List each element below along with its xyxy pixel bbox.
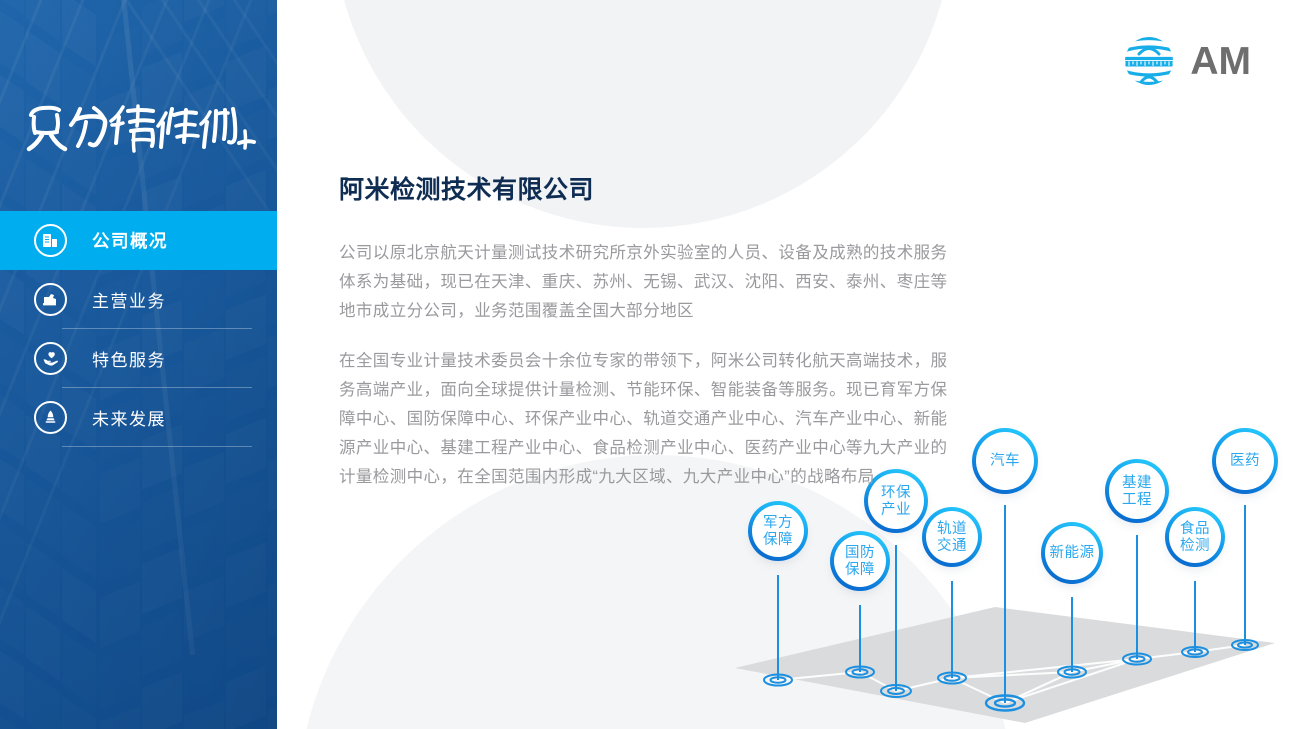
rocket-launch-icon [34, 401, 67, 434]
sidebar-item-label: 主营业务 [92, 287, 166, 312]
sidebar-item-2[interactable]: 主营业务 [0, 270, 277, 329]
sidebar-item-label: 未来发展 [92, 405, 166, 430]
sidebar-nav: 公司概况主营业务特色服务未来发展 [0, 211, 277, 447]
body-paragraph-1: 公司以原北京航天计量测试技术研究所京外实验室的人员、设备及成熟的技术服务体系为基… [339, 239, 964, 326]
industry-bubble[interactable]: 医药 [1216, 432, 1274, 490]
factory-machine-icon [34, 283, 67, 316]
sidebar-item-label: 公司概况 [92, 228, 168, 253]
calligraphy-slogan [24, 95, 256, 165]
slide-canvas: 公司概况主营业务特色服务未来发展 [0, 0, 1291, 729]
sidebar-item-3[interactable]: 特色服务 [0, 329, 277, 388]
page-title: 阿米检测技术有限公司 [339, 170, 964, 206]
brand-wordmark: AM [1190, 42, 1251, 81]
brand-logo: AM [1121, 33, 1251, 89]
sidebar-item-separator [62, 446, 252, 447]
industry-bubble[interactable]: 国防保障 [834, 535, 886, 587]
industry-bubble-label: 轨道交通 [937, 520, 967, 553]
sidebar: 公司概况主营业务特色服务未来发展 [0, 0, 277, 729]
building-chart-icon [34, 224, 67, 257]
industry-bubble-label: 食品检测 [1180, 520, 1210, 553]
body-paragraph-2: 在全国专业计量技术委员会十余位专家的带领下，阿米公司转化航天高端技术，服务高端产… [339, 347, 964, 492]
sidebar-item-1[interactable]: 公司概况 [0, 211, 277, 270]
industry-bubble-label: 基建工程 [1122, 474, 1152, 507]
industry-bubble[interactable]: 汽车 [976, 432, 1034, 490]
industry-bubble-label: 军方保障 [763, 514, 793, 547]
industry-bubble-label: 汽车 [990, 452, 1020, 469]
industry-bubble[interactable]: 基建工程 [1109, 463, 1165, 519]
industry-bubble-label: 国防保障 [845, 544, 875, 577]
globe-wave-icon [1121, 33, 1177, 89]
industry-bubble-label: 医药 [1230, 452, 1260, 469]
hand-heart-icon [34, 342, 67, 375]
sidebar-item-label: 特色服务 [92, 346, 166, 371]
industry-bubble[interactable]: 食品检测 [1169, 511, 1221, 563]
main-content: 阿米检测技术有限公司 公司以原北京航天计量测试技术研究所京外实验室的人员、设备及… [339, 170, 964, 513]
industry-bubble-label: 新能源 [1050, 544, 1095, 561]
industry-bubble[interactable]: 新能源 [1045, 526, 1099, 580]
sidebar-item-4[interactable]: 未来发展 [0, 388, 277, 447]
industry-bubble[interactable]: 轨道交通 [926, 511, 978, 563]
